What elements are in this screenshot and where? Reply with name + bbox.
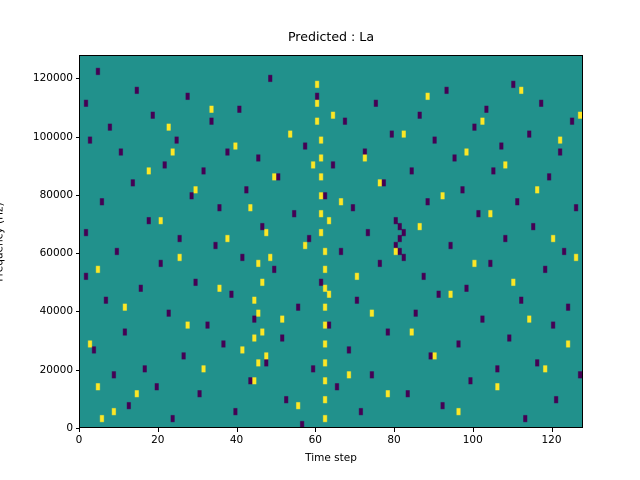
x-tick-label: 80 [387,434,400,446]
y-tick-mark [76,253,80,254]
heatmap-axes[interactable] [79,55,583,428]
y-tick-label: 100000 [33,131,73,143]
y-tick-mark [76,370,80,371]
y-tick-label: 40000 [40,305,73,317]
x-tick-mark [473,428,474,432]
x-tick-label: 120 [541,434,561,446]
x-tick-mark [315,428,316,432]
x-tick-mark [79,428,80,432]
x-tick-mark [552,428,553,432]
x-tick-mark [394,428,395,432]
y-tick-mark [76,195,80,196]
page-title: Predicted : La [79,30,583,44]
y-tick-label: 0 [66,422,73,434]
y-tick-label: 60000 [40,247,73,259]
x-tick-label: 0 [76,434,83,446]
y-tick-label: 80000 [40,189,73,201]
x-tick-label: 100 [463,434,483,446]
x-tick-label: 40 [230,434,243,446]
y-axis-label: Frequency (Hz) [0,92,7,392]
y-tick-mark [76,78,80,79]
y-tick-mark [76,428,80,429]
matplotlib-figure: Predicted : La Time step Frequency (Hz) … [0,0,640,480]
x-axis-label: Time step [79,452,583,465]
y-tick-label: 120000 [33,72,73,84]
x-tick-mark [237,428,238,432]
heatmap-canvas [80,56,582,427]
x-tick-label: 60 [309,434,322,446]
x-tick-mark [158,428,159,432]
y-tick-mark [76,137,80,138]
y-tick-mark [76,311,80,312]
y-tick-label: 20000 [40,364,73,376]
x-tick-label: 20 [151,434,164,446]
